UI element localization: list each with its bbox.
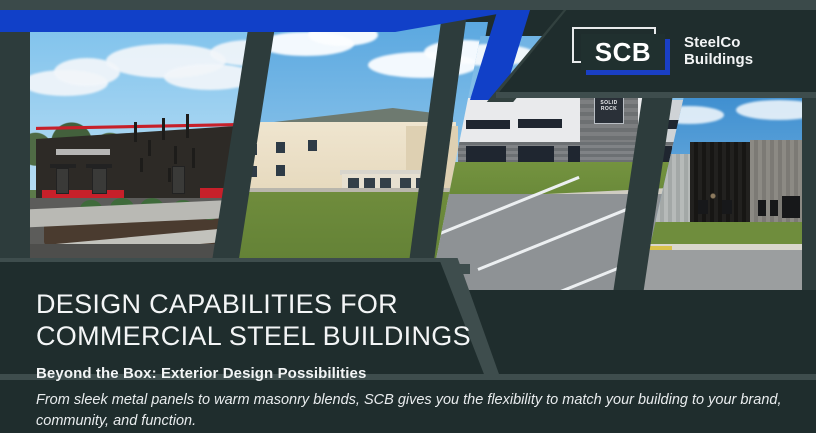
entry-door bbox=[782, 196, 800, 218]
entry-door bbox=[56, 168, 69, 194]
entry-door bbox=[172, 166, 185, 194]
building-sign-text: SOLID ROCK bbox=[595, 100, 623, 112]
brand-name: SteelCo Buildings bbox=[684, 34, 753, 68]
window-slot bbox=[140, 158, 143, 172]
window-slot bbox=[174, 146, 177, 164]
page-title: DESIGN CAPABILITIES FOR COMMERCIAL STEEL… bbox=[36, 288, 506, 352]
street bbox=[640, 250, 816, 290]
top-accent-strip bbox=[0, 0, 816, 10]
subheading: Beyond the Box: Exterior Design Possibil… bbox=[36, 365, 556, 382]
window-slot bbox=[192, 148, 195, 168]
marketing-slide: SOLID ROCK bbox=[0, 0, 816, 433]
collage-edge-left bbox=[0, 20, 30, 290]
page-title-line1: DESIGN CAPABILITIES FOR bbox=[36, 288, 506, 320]
scb-logo-mark: SCB bbox=[572, 27, 670, 75]
brand-name-line2: Buildings bbox=[684, 51, 753, 68]
brand-logo[interactable]: SCB SteelCo Buildings bbox=[572, 24, 794, 78]
storefront-glass bbox=[518, 146, 554, 162]
storefront-glass bbox=[568, 146, 580, 162]
logo-mark-text: SCB bbox=[595, 39, 651, 65]
building-sign: SOLID ROCK bbox=[594, 96, 624, 124]
tree bbox=[700, 184, 726, 224]
window bbox=[770, 200, 778, 216]
window-slot bbox=[168, 168, 171, 182]
window-band bbox=[466, 120, 510, 129]
window bbox=[276, 142, 285, 153]
brand-name-line1: SteelCo bbox=[684, 34, 753, 51]
window bbox=[308, 140, 317, 151]
window-slot bbox=[162, 118, 165, 140]
page-title-line2: COMMERCIAL STEEL BUILDINGS bbox=[36, 320, 506, 352]
body-text: From sleek metal panels to warm masonry … bbox=[36, 390, 788, 432]
entry-door bbox=[92, 168, 107, 194]
window-slot bbox=[148, 140, 151, 156]
header-rule bbox=[496, 92, 816, 98]
storefront-glass bbox=[466, 146, 506, 162]
window bbox=[276, 165, 285, 176]
logo-dark-box: SCB bbox=[581, 34, 665, 70]
window-slot bbox=[134, 122, 137, 142]
window-slot bbox=[186, 114, 189, 138]
building-signage bbox=[56, 149, 110, 155]
window-band bbox=[518, 119, 562, 128]
window bbox=[758, 200, 766, 216]
